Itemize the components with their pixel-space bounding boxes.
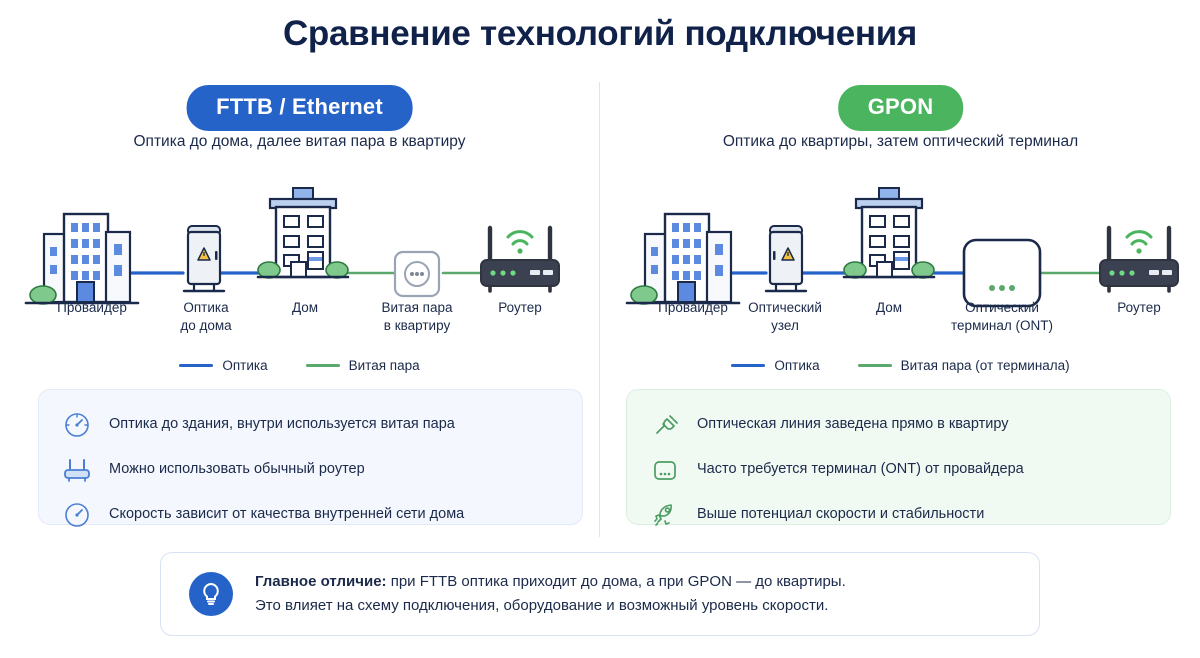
node-label-2: узел xyxy=(771,318,799,333)
ont-terminal-icon xyxy=(964,240,1040,306)
feature-item: Оптическая линия заведена прямо в кварти… xyxy=(649,408,1148,441)
feature-card-fttb: Оптика до здания, внутри используется ви… xyxy=(38,389,583,525)
callout-line2: Это влияет на схему подключения, оборудо… xyxy=(255,597,828,614)
node-label: Провайдер xyxy=(658,300,728,315)
apartment-building-icon xyxy=(258,188,348,278)
provider-building-icon xyxy=(627,214,739,304)
legend-item: Витая пара xyxy=(306,358,420,373)
node-label: Дом xyxy=(292,300,318,315)
legend-label: Оптика xyxy=(774,358,819,373)
legend-item: Оптика xyxy=(179,358,267,373)
diagram-gpon: Провайдер Оптический узел Дом Оптический… xyxy=(601,176,1200,341)
feature-text: Скорость зависит от качества внутренней … xyxy=(109,506,464,523)
node-label-2: до дома xyxy=(180,318,232,333)
node-label: Провайдер xyxy=(57,300,127,315)
key-difference-callout: Главное отличие: при FTTB оптика приходи… xyxy=(160,552,1040,636)
legend-label: Витая пара xyxy=(349,358,420,373)
node-label-2: в квартиру xyxy=(384,318,451,333)
feature-item: Оптика до здания, внутри используется ви… xyxy=(61,408,560,441)
plug-icon xyxy=(649,409,681,441)
speedometer-icon xyxy=(61,409,93,441)
router-icon xyxy=(481,228,559,291)
feature-text: Оптическая линия заведена прямо в кварти… xyxy=(697,416,1009,433)
feature-item: Часто требуется терминал (ONT) от провай… xyxy=(649,453,1148,486)
street-cabinet-icon xyxy=(184,226,224,291)
node-label: Оптика xyxy=(183,300,229,315)
feature-item: Можно использовать обычный роутер xyxy=(61,453,560,486)
badge-gpon: GPON xyxy=(838,85,964,131)
wifi-icon xyxy=(508,232,532,244)
terminal-box-icon xyxy=(649,454,681,486)
feature-text: Выше потенциал скорости и стабильности xyxy=(697,506,984,523)
provider-building-icon xyxy=(26,214,138,304)
feature-item: Выше потенциал скорости и стабильности xyxy=(649,498,1148,531)
legend-fttb: Оптика Витая пара xyxy=(0,358,599,373)
callout-line1-rest: при FTTB оптика приходит до дома, а при … xyxy=(387,573,846,590)
column-divider xyxy=(599,82,600,537)
router-icon xyxy=(1100,228,1178,291)
legend-swatch-fiber xyxy=(731,364,765,367)
legend-label: Оптика xyxy=(222,358,267,373)
node-label: Витая пара xyxy=(382,300,453,315)
infographic-root: Сравнение технологий подключения FTTB / … xyxy=(0,0,1200,658)
feature-text: Можно использовать обычный роутер xyxy=(109,461,365,478)
legend-swatch-twisted xyxy=(306,364,340,367)
router-icon xyxy=(61,454,93,486)
rocket-icon xyxy=(649,499,681,531)
wall-socket-icon xyxy=(395,252,439,296)
legend-gpon: Оптика Витая пара (от терминала) xyxy=(601,358,1200,373)
street-cabinet-icon xyxy=(766,226,806,291)
subtitle-fttb: Оптика до дома, далее витая пара в кварт… xyxy=(0,133,599,151)
node-label: Дом xyxy=(876,300,902,315)
speedometer-icon xyxy=(61,499,93,531)
legend-item: Оптика xyxy=(731,358,819,373)
feature-card-gpon: Оптическая линия заведена прямо в кварти… xyxy=(626,389,1171,525)
legend-item: Витая пара (от терминала) xyxy=(858,358,1070,373)
node-label: Роутер xyxy=(1117,300,1161,315)
legend-swatch-twisted xyxy=(858,364,892,367)
lightbulb-icon xyxy=(189,572,233,616)
badge-fttb: FTTB / Ethernet xyxy=(186,85,413,131)
subtitle-gpon: Оптика до квартиры, затем оптический тер… xyxy=(601,133,1200,151)
feature-text: Часто требуется терминал (ONT) от провай… xyxy=(697,461,1024,478)
node-label: Оптический xyxy=(965,300,1039,315)
diagram-fttb: Провайдер Оптика до дома Дом Витая пара … xyxy=(0,176,599,341)
callout-text: Главное отличие: при FTTB оптика приходи… xyxy=(255,570,846,619)
node-label: Роутер xyxy=(498,300,542,315)
callout-bold-lead: Главное отличие: xyxy=(255,573,387,590)
legend-swatch-fiber xyxy=(179,364,213,367)
feature-text: Оптика до здания, внутри используется ви… xyxy=(109,416,455,433)
feature-item: Скорость зависит от качества внутренней … xyxy=(61,498,560,531)
node-label: Оптический xyxy=(748,300,822,315)
wifi-icon xyxy=(1127,232,1151,244)
node-label-2: терминал (ONT) xyxy=(951,318,1053,333)
node-labels: Провайдер Оптический узел Дом Оптический… xyxy=(658,300,1161,333)
legend-label: Витая пара (от терминала) xyxy=(901,358,1070,373)
apartment-building-icon xyxy=(844,188,934,278)
node-labels: Провайдер Оптика до дома Дом Витая пара … xyxy=(57,300,542,333)
